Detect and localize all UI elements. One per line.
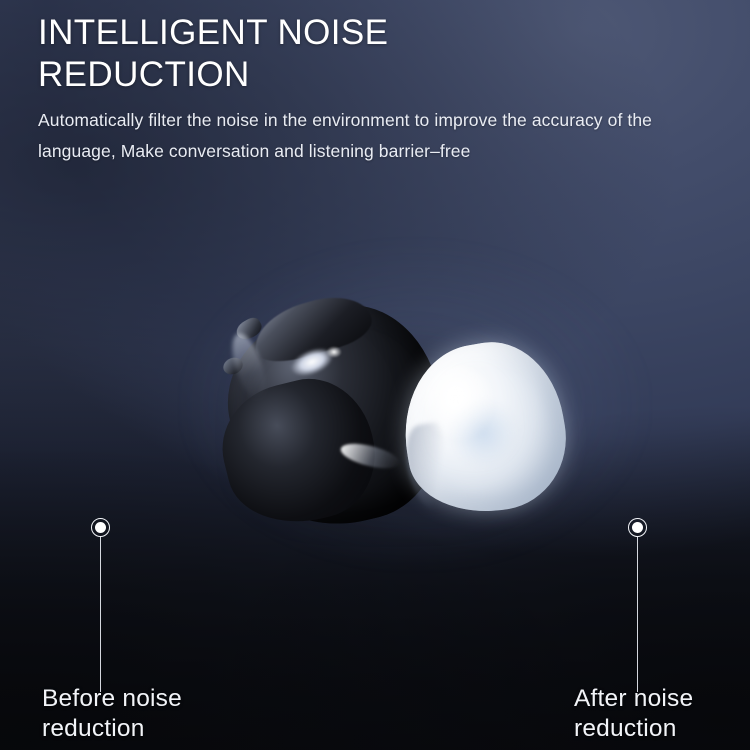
product-feature-banner: INTELLIGENT NOISE REDUCTION Automaticall… bbox=[0, 0, 750, 750]
page-title: INTELLIGENT NOISE REDUCTION bbox=[38, 12, 728, 96]
after-noise-label: After noise reduction bbox=[574, 684, 693, 744]
callout-stem-left bbox=[100, 537, 102, 692]
earbud-product-image bbox=[218, 296, 584, 546]
ring-marker-icon bbox=[91, 518, 110, 537]
ring-marker-icon bbox=[628, 518, 647, 537]
header-block: INTELLIGENT NOISE REDUCTION Automaticall… bbox=[38, 12, 728, 167]
page-subtitle: Automatically filter the noise in the en… bbox=[38, 105, 698, 167]
callout-stem-right bbox=[637, 537, 639, 692]
ear-tip-highlight bbox=[424, 366, 494, 440]
earbud-gloss-spot bbox=[326, 346, 342, 358]
before-noise-label: Before noise reduction bbox=[42, 684, 182, 744]
